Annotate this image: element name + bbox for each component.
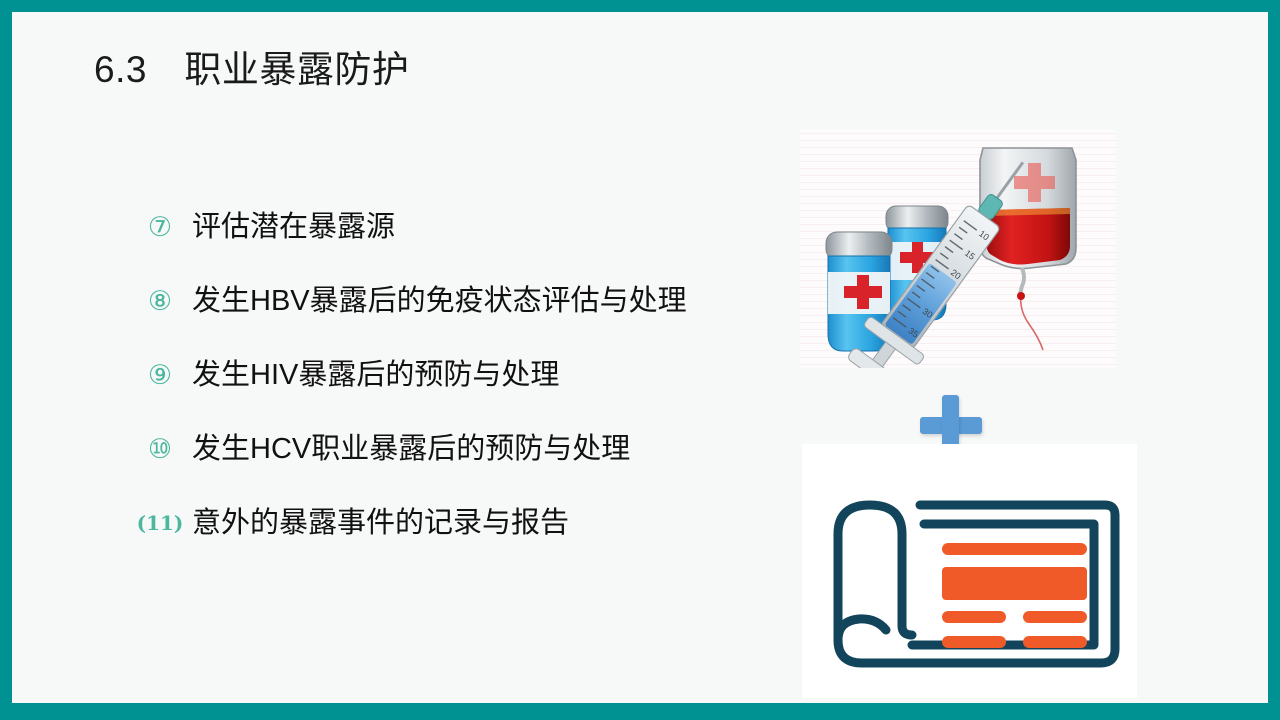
news-report-document-icon	[802, 444, 1137, 698]
list-item: ⑩ 发生HCV职业暴露后的预防与处理	[138, 412, 778, 486]
slide-content-area: 6.3 职业暴露防护 ⑦ 评估潜在暴露源 ⑧ 发生HBV暴露后的免疫状态评估与处…	[12, 12, 1268, 703]
medical-supplies-illustration: 10 15 20 30 35	[800, 130, 1116, 368]
bullet-list: ⑦ 评估潜在暴露源 ⑧ 发生HBV暴露后的免疫状态评估与处理 ⑨ 发生HIV暴露…	[138, 190, 778, 560]
list-marker-icon: ⑧	[138, 288, 182, 315]
list-item-label: 发生HCV职业暴露后的预防与处理	[182, 429, 630, 469]
list-item: ⑧ 发生HBV暴露后的免疫状态评估与处理	[138, 264, 778, 338]
blood-bag-graphic	[980, 148, 1076, 350]
list-item: (11) 意外的暴露事件的记录与报告	[138, 486, 778, 560]
page-title: 6.3 职业暴露防护	[94, 46, 409, 94]
list-item-label: 意外的暴露事件的记录与报告	[182, 503, 569, 543]
list-item: ⑦ 评估潜在暴露源	[138, 190, 778, 264]
slide: 6.3 职业暴露防护 ⑦ 评估潜在暴露源 ⑧ 发生HBV暴露后的免疫状态评估与处…	[0, 0, 1280, 720]
list-item-label: 发生HBV暴露后的免疫状态评估与处理	[182, 281, 687, 321]
list-item-label: 发生HIV暴露后的预防与处理	[182, 355, 559, 395]
list-item: ⑨ 发生HIV暴露后的预防与处理	[138, 338, 778, 412]
list-item-label: 评估潜在暴露源	[182, 207, 395, 247]
list-marker-icon: ⑦	[138, 214, 182, 241]
list-marker-icon: (11)	[138, 513, 182, 533]
list-marker-icon: ⑨	[138, 362, 182, 389]
list-marker-icon: ⑩	[138, 436, 182, 463]
